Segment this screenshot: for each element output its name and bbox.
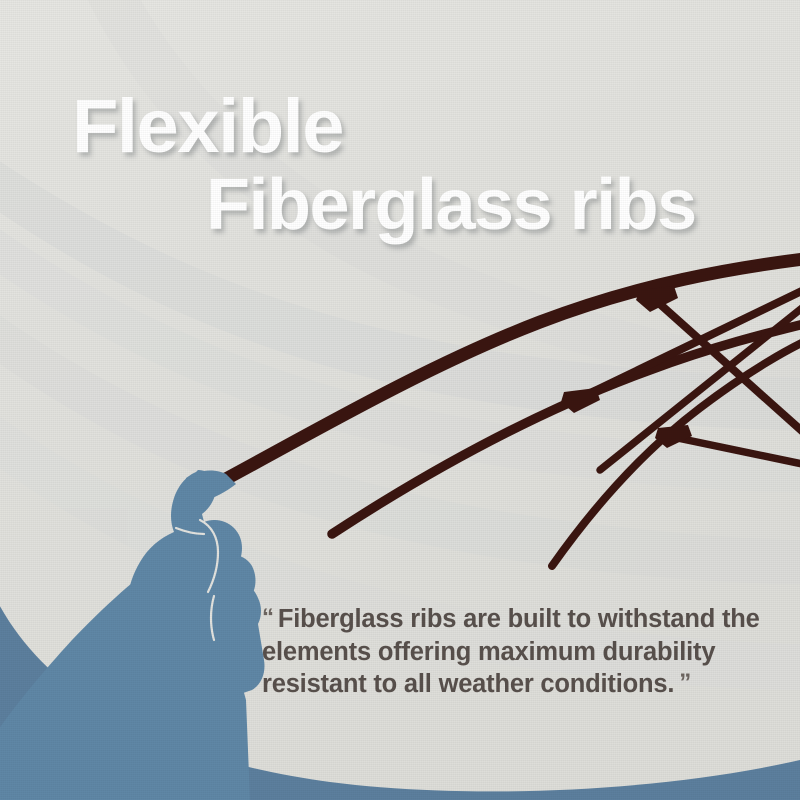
feature-poster: Flexible Fiberglass ribs “Fiberglass rib… [0, 0, 800, 800]
quote-block: “Fiberglass ribs are built to withstand … [262, 603, 782, 701]
quote-text-line-3: resistant to all weather conditions. [262, 670, 674, 698]
quote-line-3: resistant to all weather conditions.” [262, 668, 782, 701]
quote-line-2: elements offering maximum durability [262, 636, 782, 669]
open-quote-mark: “ [262, 604, 274, 631]
hand-shape [0, 470, 265, 800]
close-quote-mark: ” [679, 669, 691, 696]
quote-line-1: “Fiberglass ribs are built to withstand … [262, 603, 782, 636]
quote-text-line-1: Fiberglass ribs are built to withstand t… [278, 605, 760, 633]
quote-text-line-2: elements offering maximum durability [262, 638, 715, 666]
